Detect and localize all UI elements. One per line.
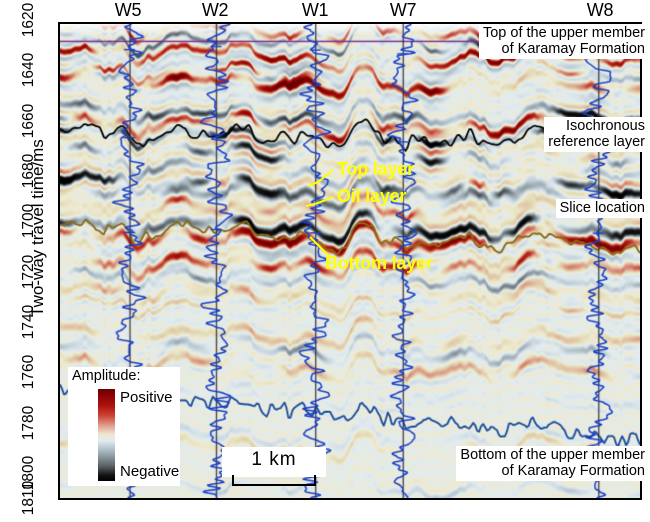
y-tick-label: 1760 [0,363,46,381]
well-label-w8: W8 [587,0,613,21]
annotation-isochronous-reference: Isochronous reference layer [544,117,648,152]
y-tick-label: 1620 [0,11,46,29]
annotation-bottom-upper-member: Bottom of the upper member of Karamay Fo… [456,446,648,481]
y-tick-label: 1800 [0,464,46,482]
amplitude-legend: Amplitude: Positive Negative [68,367,180,486]
well-label-w2: W2 [202,0,228,21]
y-tick-label: 1740 [0,313,46,331]
y-tick-label: 1780 [0,414,46,432]
seismic-section-figure: Two-way travel time/ms 16201640166016801… [0,0,650,522]
y-tick-label: 1700 [0,212,46,230]
scale-bar: 1 km [222,447,326,495]
well-label-w7: W7 [390,0,416,21]
scale-bar-label: 1 km [222,449,326,471]
scale-bar-rule [232,475,316,486]
y-tick-label: 1810 [0,489,46,507]
y-tick-label: 1720 [0,263,46,281]
colorbar-negative-label: Negative [120,463,179,480]
pick-label-oil-layer: Oil layer [337,186,406,207]
well-label-w5: W5 [115,0,141,21]
y-tick-label: 1680 [0,162,46,180]
annotation-slice-location: Slice location [556,199,648,218]
legend-title: Amplitude: [72,368,141,384]
annotation-top-upper-member: Top of the upper member of Karamay Forma… [479,24,648,59]
y-tick-label: 1660 [0,112,46,130]
pick-label-bottom-layer: Bottom layer [325,253,433,274]
well-label-w1: W1 [302,0,328,21]
amplitude-colorbar [98,389,115,481]
y-tick-label: 1640 [0,61,46,79]
pick-label-top-layer: Top layer [337,159,414,180]
colorbar-positive-label: Positive [120,389,173,406]
